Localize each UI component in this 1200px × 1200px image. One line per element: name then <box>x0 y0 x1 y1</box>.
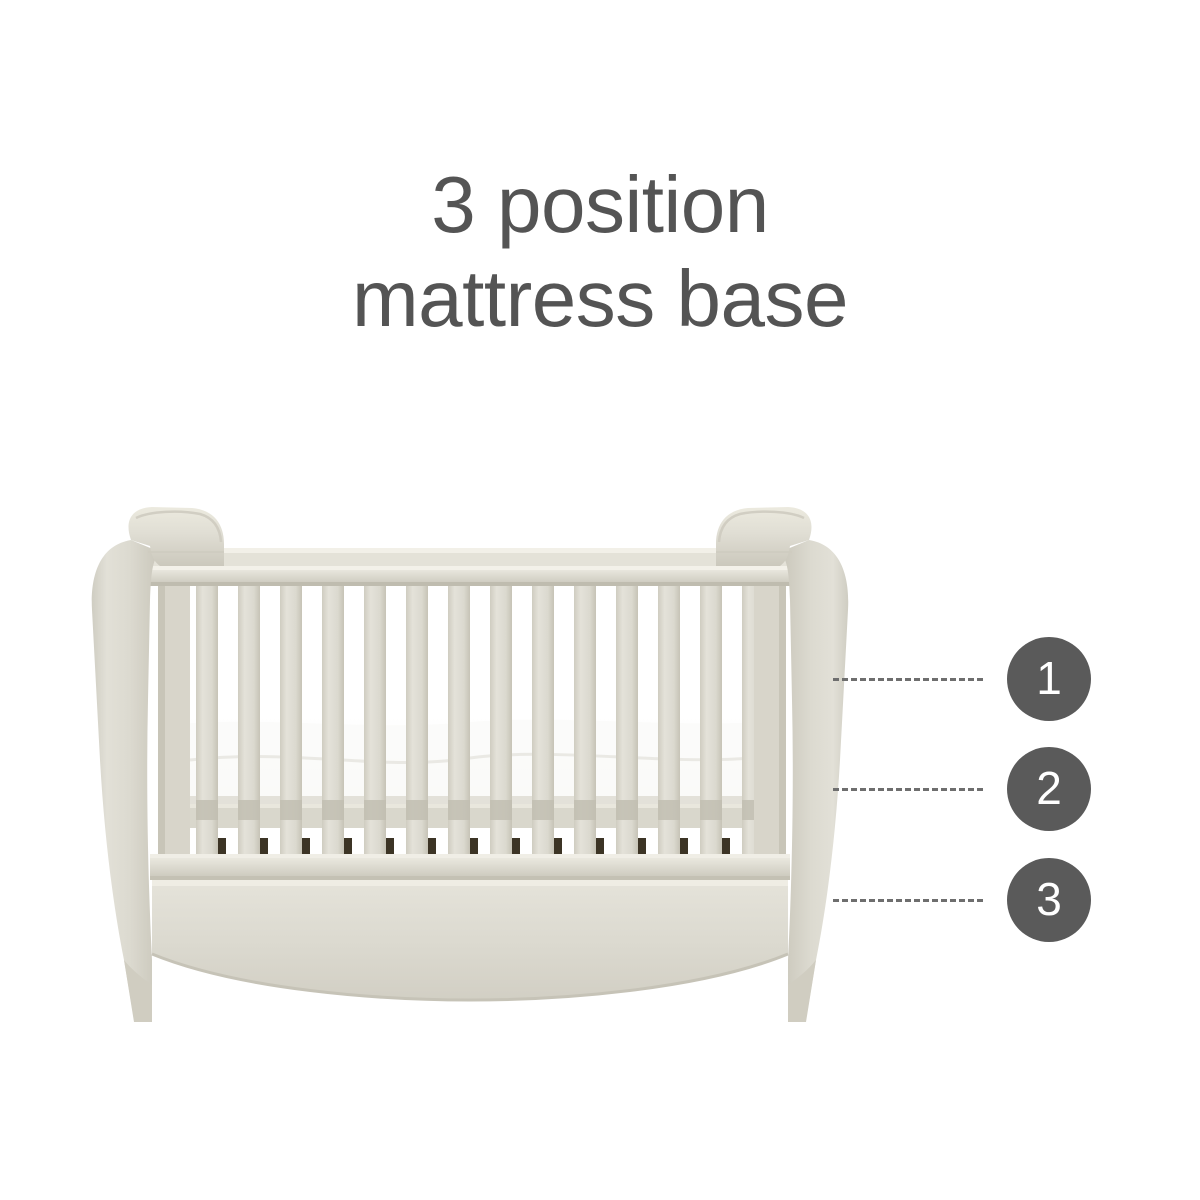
callout-leader-line-2 <box>833 788 983 791</box>
callout-leader-line-3 <box>833 899 983 902</box>
callout-position-1: 1 <box>833 633 1091 725</box>
cot-drawer-apron-panel <box>152 880 788 1000</box>
callout-badge-3[interactable]: 3 <box>1007 858 1091 942</box>
cot-top-rail <box>150 566 790 586</box>
callout-leader-line-1 <box>833 678 983 681</box>
product-feature-graphic: 3 position mattress base <box>0 0 1200 1200</box>
cot-lower-rail <box>150 854 790 880</box>
callout-position-3: 3 <box>833 854 1091 946</box>
callout-position-2: 2 <box>833 743 1091 835</box>
cot-bed-illustration <box>0 0 1200 1200</box>
callout-badge-2[interactable]: 2 <box>1007 747 1091 831</box>
callout-badge-1[interactable]: 1 <box>1007 637 1091 721</box>
